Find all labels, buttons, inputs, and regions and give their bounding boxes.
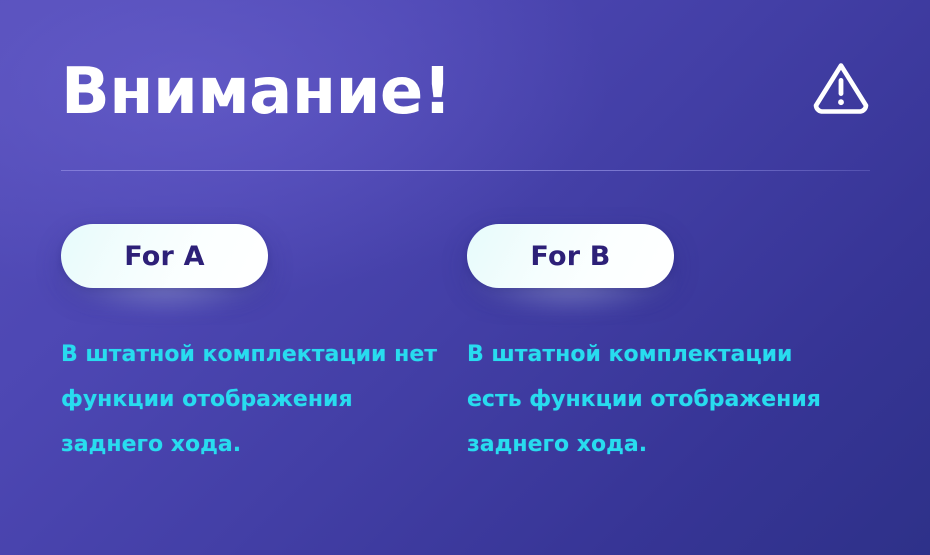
for-a-button-label: For A xyxy=(124,241,205,272)
column-for-a: For A В штатной комплектации нет функции… xyxy=(61,224,467,467)
header-divider xyxy=(61,170,870,171)
for-a-description: В штатной комплектации нет функции отобр… xyxy=(61,288,443,467)
for-b-description: В штатной комплектации есть функции отоб… xyxy=(467,288,853,467)
slide-header: Внимание! xyxy=(61,52,870,132)
for-b-button-label: For B xyxy=(530,241,610,272)
for-a-button[interactable]: For A xyxy=(61,224,268,288)
for-b-button[interactable]: For B xyxy=(467,224,674,288)
warning-triangle-icon xyxy=(812,60,870,116)
for-b-button-wrap: For B xyxy=(467,224,674,288)
column-for-b: For B В штатной комплектации есть функци… xyxy=(467,224,873,467)
comparison-columns: For A В штатной комплектации нет функции… xyxy=(61,224,873,467)
for-a-button-wrap: For A xyxy=(61,224,268,288)
warning-slide: Внимание! For A В штатной комплектации н… xyxy=(0,0,930,555)
page-title: Внимание! xyxy=(61,52,452,132)
